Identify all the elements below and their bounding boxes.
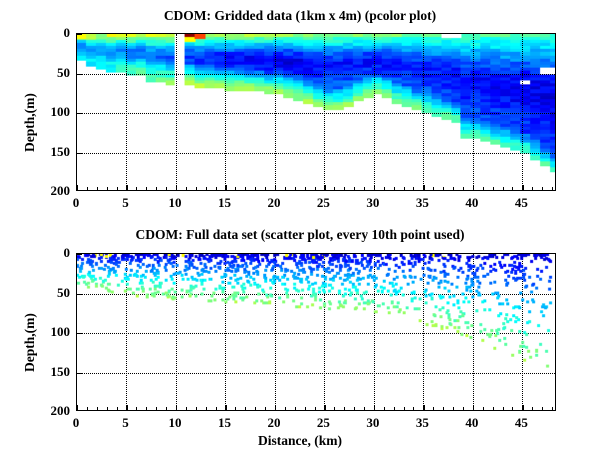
x-tick-minor [453, 187, 454, 190]
x-tick-minor [453, 407, 454, 410]
x-ticklabel: 0 [73, 195, 80, 211]
x-tick-minor [493, 187, 494, 190]
x-tick-minor [512, 187, 513, 190]
x-ticklabel: 20 [267, 415, 280, 431]
x-tick-minor [255, 187, 256, 190]
x-tick [225, 405, 226, 410]
x-tick-minor [433, 187, 434, 190]
x-tick-minor [344, 187, 345, 190]
y-tick [77, 153, 82, 154]
y-tick [77, 34, 82, 35]
x-tick-minor [354, 187, 355, 190]
x-tick-minor [305, 187, 306, 190]
x-tick-minor [394, 187, 395, 190]
x-tick-minor [542, 187, 543, 190]
x-tick-minor [334, 187, 335, 190]
x-tick-minor [503, 407, 504, 410]
x-tick-minor [542, 407, 543, 410]
y-tick [77, 74, 82, 75]
x-tick [126, 405, 127, 410]
x-tick [324, 185, 325, 190]
gridded-y-axis-label: Depth,(m) [22, 93, 38, 152]
x-tick-minor [285, 407, 286, 410]
x-ticklabel: 20 [267, 195, 280, 211]
x-tick-minor [235, 407, 236, 410]
x-ticklabel: 30 [366, 415, 379, 431]
x-ticklabel: 45 [515, 415, 528, 431]
scatter-y-axis-label: Depth,(m) [22, 313, 38, 372]
x-tick-minor [532, 407, 533, 410]
x-tick-minor [186, 187, 187, 190]
gridded-plot-title: CDOM: Gridded data (1km x 4m) (pcolor pl… [0, 8, 600, 24]
x-tick-minor [413, 187, 414, 190]
y-ticklabel: 100 [40, 324, 70, 340]
y-ticklabel: 200 [40, 183, 70, 199]
x-tick-minor [493, 407, 494, 410]
x-tick-minor [483, 407, 484, 410]
x-tick-minor [334, 407, 335, 410]
scatter-plot-title: CDOM: Full data set (scatter plot, every… [0, 227, 600, 243]
x-tick [275, 185, 276, 190]
x-tick-minor [97, 187, 98, 190]
x-tick [522, 185, 523, 190]
x-tick [275, 405, 276, 410]
gridded-axes-frame [76, 33, 556, 191]
y-ticklabel: 100 [40, 104, 70, 120]
x-tick-minor [87, 407, 88, 410]
subplot-full-scatter: CDOM: Full data set (scatter plot, every… [0, 215, 600, 451]
y-tick [77, 294, 82, 295]
x-tick-minor [413, 407, 414, 410]
x-tick-minor [117, 187, 118, 190]
y-ticklabel: 0 [40, 245, 70, 261]
x-ticklabel: 5 [122, 415, 129, 431]
subplot-gridded-pcolor: CDOM: Gridded data (1km x 4m) (pcolor pl… [0, 0, 600, 215]
x-tick-minor [443, 187, 444, 190]
x-tick [473, 405, 474, 410]
x-tick-minor [136, 187, 137, 190]
x-tick-minor [136, 407, 137, 410]
x-ticklabel: 10 [168, 195, 181, 211]
x-tick-minor [117, 407, 118, 410]
x-tick-minor [146, 407, 147, 410]
x-tick-minor [503, 187, 504, 190]
x-tick-minor [364, 407, 365, 410]
x-tick-minor [206, 407, 207, 410]
x-tick-minor [433, 407, 434, 410]
x-tick-minor [295, 407, 296, 410]
x-tick-minor [196, 187, 197, 190]
x-tick-minor [463, 407, 464, 410]
x-tick-minor [245, 187, 246, 190]
x-ticklabel: 35 [416, 415, 429, 431]
x-tick-minor [255, 407, 256, 410]
x-tick-minor [265, 407, 266, 410]
x-tick-minor [315, 187, 316, 190]
x-tick-minor [404, 407, 405, 410]
x-tick-minor [394, 407, 395, 410]
x-tick [77, 185, 78, 190]
x-tick-minor [552, 187, 553, 190]
x-tick-minor [107, 407, 108, 410]
scatter-axes-frame [76, 253, 556, 411]
x-ticklabel: 25 [317, 415, 330, 431]
y-ticklabel: 150 [40, 144, 70, 160]
x-tick-minor [315, 407, 316, 410]
x-tick-minor [216, 407, 217, 410]
x-tick-minor [463, 187, 464, 190]
figure-canvas: CDOM: Gridded data (1km x 4m) (pcolor pl… [0, 0, 600, 451]
x-ticklabel: 10 [168, 415, 181, 431]
y-tick [77, 254, 82, 255]
x-tick-minor [97, 407, 98, 410]
y-tick [77, 373, 82, 374]
x-tick [77, 405, 78, 410]
x-tick-minor [364, 187, 365, 190]
x-ticklabel: 30 [366, 195, 379, 211]
scatter-data-layer [77, 254, 555, 410]
x-tick-minor [305, 407, 306, 410]
x-ticklabel: 35 [416, 195, 429, 211]
y-ticklabel: 50 [40, 65, 70, 81]
x-tick [126, 185, 127, 190]
x-tick-minor [285, 187, 286, 190]
x-ticklabel: 5 [122, 195, 129, 211]
x-ticklabel: 0 [73, 415, 80, 431]
x-ticklabel: 15 [218, 195, 231, 211]
x-tick-minor [156, 187, 157, 190]
y-ticklabel: 50 [40, 285, 70, 301]
x-tick-minor [404, 187, 405, 190]
x-tick-minor [206, 187, 207, 190]
x-tick [374, 405, 375, 410]
x-ticklabel: 40 [465, 195, 478, 211]
x-tick-minor [235, 187, 236, 190]
x-tick-minor [166, 187, 167, 190]
y-ticklabel: 200 [40, 403, 70, 419]
x-tick-minor [245, 407, 246, 410]
pcolor-data-layer [77, 34, 555, 190]
x-tick-minor [156, 407, 157, 410]
x-tick-minor [354, 407, 355, 410]
x-tick-minor [295, 187, 296, 190]
x-tick-minor [532, 187, 533, 190]
x-ticklabel: 40 [465, 415, 478, 431]
x-tick-minor [552, 407, 553, 410]
x-tick-minor [146, 187, 147, 190]
x-tick [423, 405, 424, 410]
x-ticklabel: 45 [515, 195, 528, 211]
x-tick-minor [216, 187, 217, 190]
x-tick-minor [166, 407, 167, 410]
x-tick-minor [384, 187, 385, 190]
x-tick-minor [87, 187, 88, 190]
scatter-x-axis-label: Distance, (km) [0, 433, 600, 449]
x-tick [473, 185, 474, 190]
x-ticklabel: 25 [317, 195, 330, 211]
x-tick-minor [265, 187, 266, 190]
x-tick [176, 185, 177, 190]
x-tick [374, 185, 375, 190]
x-tick-minor [344, 407, 345, 410]
x-tick [225, 185, 226, 190]
x-tick-minor [443, 407, 444, 410]
x-tick [522, 405, 523, 410]
x-tick-minor [384, 407, 385, 410]
y-tick [77, 113, 82, 114]
y-ticklabel: 0 [40, 25, 70, 41]
x-tick-minor [483, 187, 484, 190]
x-ticklabel: 15 [218, 415, 231, 431]
y-tick [77, 333, 82, 334]
x-tick [176, 405, 177, 410]
x-tick [423, 185, 424, 190]
x-tick [324, 405, 325, 410]
x-tick-minor [196, 407, 197, 410]
y-ticklabel: 150 [40, 364, 70, 380]
x-tick-minor [186, 407, 187, 410]
x-tick-minor [512, 407, 513, 410]
x-tick-minor [107, 187, 108, 190]
